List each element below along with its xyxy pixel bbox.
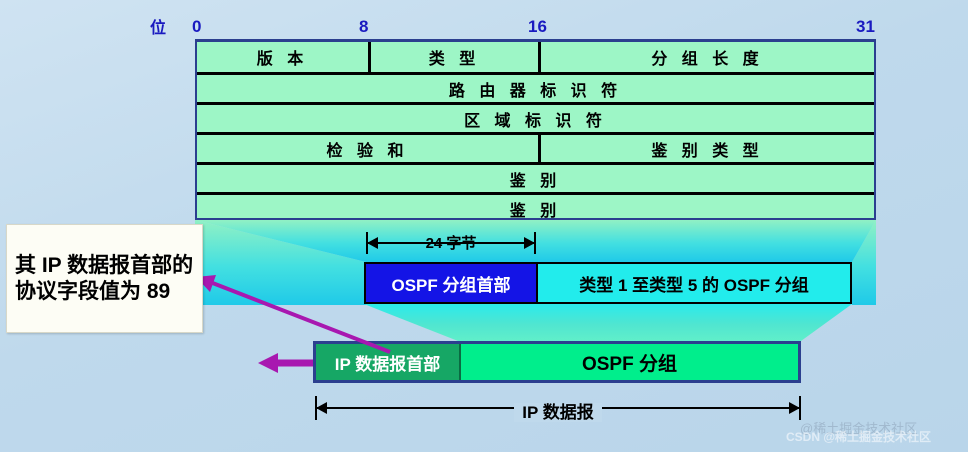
table-row: 区 域 标 识 符	[197, 102, 874, 132]
field-packet-length: 分 组 长 度	[538, 42, 874, 72]
watermark-brand: @稀土掘金技术社区	[800, 418, 917, 437]
bit-tick-16: 16	[528, 18, 547, 35]
field-authentication-1: 鉴 别	[197, 165, 874, 192]
ospf-header-table: 版 本 类 型 分 组 长 度 路 由 器 标 识 符 区 域 标 识 符 检 …	[195, 40, 876, 220]
table-row: 检 验 和 鉴 别 类 型	[197, 132, 874, 162]
table-row: 版 本 类 型 分 组 长 度	[197, 42, 874, 72]
field-area-id: 区 域 标 识 符	[197, 105, 874, 132]
bit-tick-0: 0	[192, 18, 201, 35]
measure-ip-label: IP 数据报	[315, 398, 801, 423]
table-row: 鉴 别	[197, 162, 874, 192]
field-type: 类 型	[368, 42, 538, 72]
field-router-id: 路 由 器 标 识 符	[197, 75, 874, 102]
callout-text: 其 IP 数据报首部的协议字段值为 89	[15, 253, 194, 304]
measure-24-label: 24 字节	[366, 232, 536, 253]
diagram-canvas: 位 0 8 16 31 版 本 类 型 分 组 长 度 路 由 器 标 识 符 …	[0, 0, 968, 452]
bit-tick-8: 8	[359, 18, 368, 35]
bit-axis-label: 位	[150, 14, 166, 38]
table-row: 路 由 器 标 识 符	[197, 72, 874, 102]
table-row: 鉴 别	[197, 192, 874, 222]
ospf-packet-bar: OSPF 分组首部 类型 1 至类型 5 的 OSPF 分组	[364, 262, 852, 304]
field-version: 版 本	[197, 42, 368, 72]
ospf-packet-header-segment: OSPF 分组首部	[366, 264, 536, 302]
field-auth-type: 鉴 别 类 型	[538, 135, 874, 162]
measure-24-bytes: 24 字节	[366, 232, 536, 254]
ospf-packet-body-segment: 类型 1 至类型 5 的 OSPF 分组	[536, 264, 850, 302]
field-checksum: 检 验 和	[197, 135, 538, 162]
ip-header-segment: IP 数据报首部	[316, 344, 459, 380]
ip-payload-segment: OSPF 分组	[459, 344, 798, 380]
measure-ip-label-text: IP 数据报	[514, 403, 601, 422]
watermark-site: CSDN @稀土掘金技术社区	[786, 428, 931, 445]
callout-box: 其 IP 数据报首部的协议字段值为 89	[6, 224, 203, 333]
measure-ip-datagram: IP 数据报	[315, 396, 801, 420]
ip-datagram-bar: IP 数据报首部 OSPF 分组	[313, 341, 801, 383]
bit-tick-31: 31	[856, 18, 875, 35]
field-authentication-2: 鉴 别	[197, 195, 874, 222]
